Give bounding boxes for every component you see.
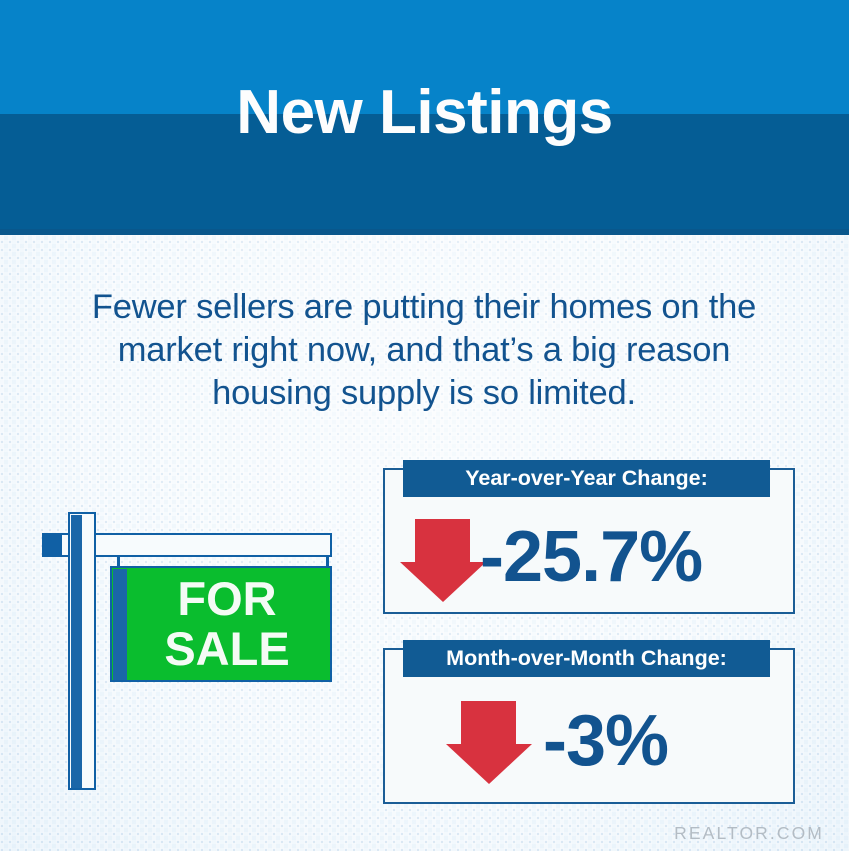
arrow-down-icon-shaft-mom <box>461 701 516 744</box>
stat-label-year-over-year: Year-over-Year Change: <box>403 460 770 497</box>
sign-post-shadow <box>71 515 82 788</box>
sign-board-text: FOR SALE <box>124 572 330 676</box>
sign-cross-arm <box>60 533 332 557</box>
stat-value-year-over-year: -25.7% <box>480 521 702 593</box>
sign-text-line-1: FOR <box>124 574 330 624</box>
arrow-down-icon-shaft-yoy <box>415 519 470 562</box>
arrow-down-icon-mom <box>446 744 532 784</box>
stat-value-month-over-month: -3% <box>543 705 668 777</box>
sign-text-line-2: SALE <box>124 624 330 674</box>
arrow-down-icon-yoy <box>400 562 486 602</box>
sign-arm-end-cap <box>42 533 62 557</box>
stat-label-month-over-month: Month-over-Month Change: <box>403 640 770 677</box>
brand-wordmark: REALTOR.COM <box>604 823 824 844</box>
infographic-canvas: New Listings Fewer sellers are putting t… <box>0 0 849 851</box>
